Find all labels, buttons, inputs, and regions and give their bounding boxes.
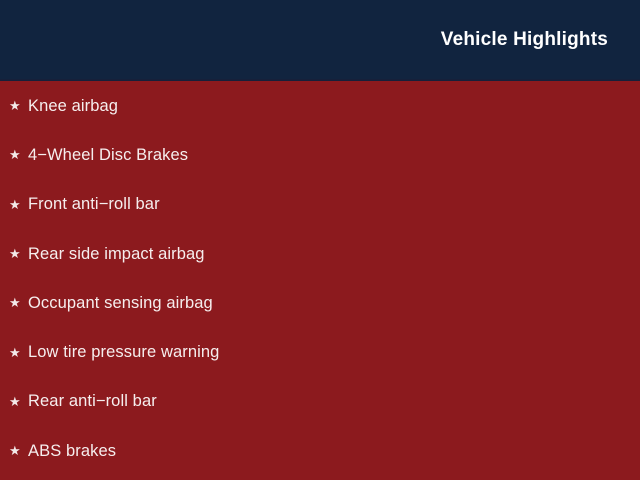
list-item: ★ Rear anti−roll bar [0, 377, 640, 426]
star-bullet-icon: ★ [9, 346, 28, 359]
star-bullet-icon: ★ [9, 148, 28, 161]
star-bullet-icon: ★ [9, 296, 28, 309]
list-item: ★ Knee airbag [0, 81, 640, 130]
list-item-label: Low tire pressure warning [28, 342, 219, 362]
list-item: ★ Front anti−roll bar [0, 180, 640, 229]
star-bullet-icon: ★ [9, 395, 28, 408]
list-item: ★ Rear side impact airbag [0, 229, 640, 278]
vehicle-highlights-slide: Vehicle Highlights ★ Knee airbag ★ 4−Whe… [0, 0, 640, 480]
star-bullet-icon: ★ [9, 444, 28, 457]
list-item-label: Rear anti−roll bar [28, 391, 157, 411]
star-bullet-icon: ★ [9, 99, 28, 112]
slide-body: ★ Knee airbag ★ 4−Wheel Disc Brakes ★ Fr… [0, 81, 640, 480]
list-item-label: Front anti−roll bar [28, 194, 160, 214]
list-item-label: ABS brakes [28, 441, 116, 461]
list-item: ★ 4−Wheel Disc Brakes [0, 130, 640, 179]
list-item-label: 4−Wheel Disc Brakes [28, 145, 188, 165]
list-item: ★ Low tire pressure warning [0, 327, 640, 376]
list-item-label: Rear side impact airbag [28, 244, 205, 264]
vehicle-highlights-list: ★ Knee airbag ★ 4−Wheel Disc Brakes ★ Fr… [0, 81, 640, 475]
list-item: ★ Occupant sensing airbag [0, 278, 640, 327]
star-bullet-icon: ★ [9, 247, 28, 260]
list-item-label: Knee airbag [28, 96, 118, 116]
slide-header-band: Vehicle Highlights [0, 0, 640, 79]
list-item: ★ ABS brakes [0, 426, 640, 475]
list-item-label: Occupant sensing airbag [28, 293, 213, 313]
star-bullet-icon: ★ [9, 198, 28, 211]
page-title: Vehicle Highlights [441, 27, 608, 53]
